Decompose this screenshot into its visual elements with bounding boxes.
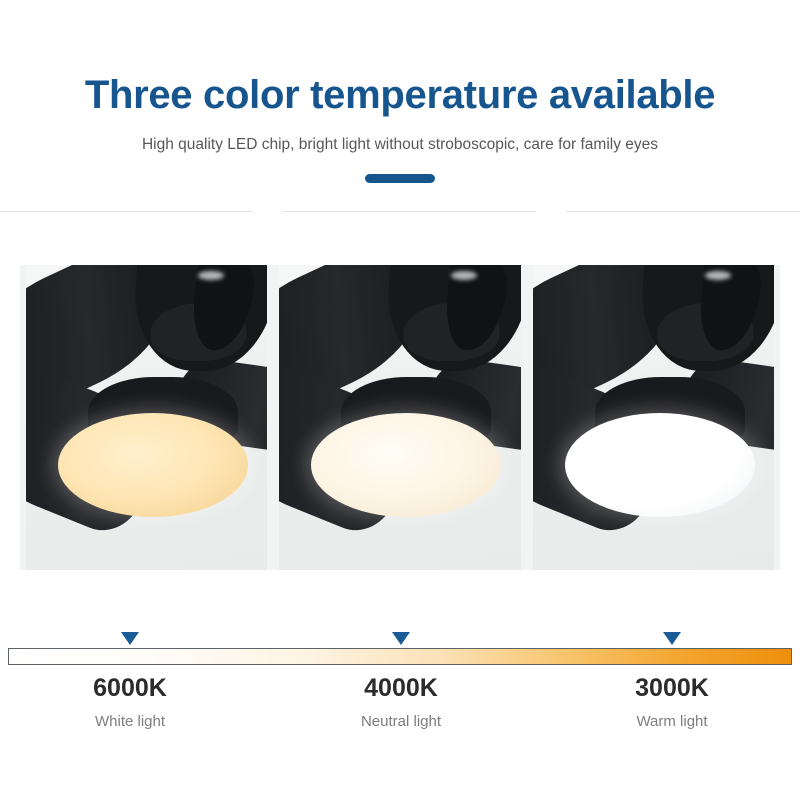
gallery-panel-neutral[interactable] bbox=[273, 265, 526, 570]
ceiling-fan-image-neutral bbox=[279, 265, 520, 570]
page-subtitle: High quality LED chip, bright light with… bbox=[0, 134, 800, 156]
divider-right bbox=[566, 211, 800, 212]
color-temperature-scale: 6000K White light 4000K Neutral light 30… bbox=[0, 620, 800, 800]
kelvin-value-3000k: 3000K bbox=[572, 672, 772, 704]
scale-labels: 6000K White light 4000K Neutral light 30… bbox=[0, 672, 800, 792]
promo-page: Three color temperature available High q… bbox=[0, 0, 800, 800]
gallery-panel-warm[interactable] bbox=[20, 265, 273, 570]
light-name-3000k: Warm light bbox=[572, 712, 772, 732]
light-name-6000k: White light bbox=[30, 712, 230, 732]
scale-entry-6000k: 6000K White light bbox=[30, 672, 230, 732]
divider-left bbox=[0, 211, 252, 212]
highlight-glint bbox=[198, 271, 224, 280]
scale-entry-3000k: 3000K Warm light bbox=[572, 672, 772, 732]
highlight-glint bbox=[705, 271, 731, 280]
scale-marker-3000k bbox=[663, 632, 681, 645]
led-light-disc-white bbox=[565, 413, 755, 517]
led-light-disc-neutral bbox=[311, 413, 501, 517]
panel-inner bbox=[533, 265, 774, 570]
scale-marker-4000k bbox=[392, 632, 410, 645]
panel-inner bbox=[279, 265, 520, 570]
header: Three color temperature available High q… bbox=[0, 0, 800, 215]
scale-entry-4000k: 4000K Neutral light bbox=[301, 672, 501, 732]
panel-inner bbox=[26, 265, 267, 570]
page-title: Three color temperature available bbox=[0, 71, 800, 119]
scale-marker-6000k bbox=[121, 632, 139, 645]
light-name-4000k: Neutral light bbox=[301, 712, 501, 732]
led-light-disc-warm bbox=[58, 413, 248, 517]
temperature-gradient-bar bbox=[8, 648, 792, 665]
ceiling-fan-image-warm bbox=[26, 265, 267, 570]
kelvin-value-4000k: 4000K bbox=[301, 672, 501, 704]
product-image-gallery bbox=[20, 265, 780, 570]
kelvin-value-6000k: 6000K bbox=[30, 672, 230, 704]
divider-center bbox=[282, 211, 536, 212]
ceiling-fan-image-white bbox=[533, 265, 774, 570]
gallery-panel-white[interactable] bbox=[527, 265, 780, 570]
accent-underline bbox=[365, 174, 435, 183]
scale-markers bbox=[0, 620, 800, 646]
